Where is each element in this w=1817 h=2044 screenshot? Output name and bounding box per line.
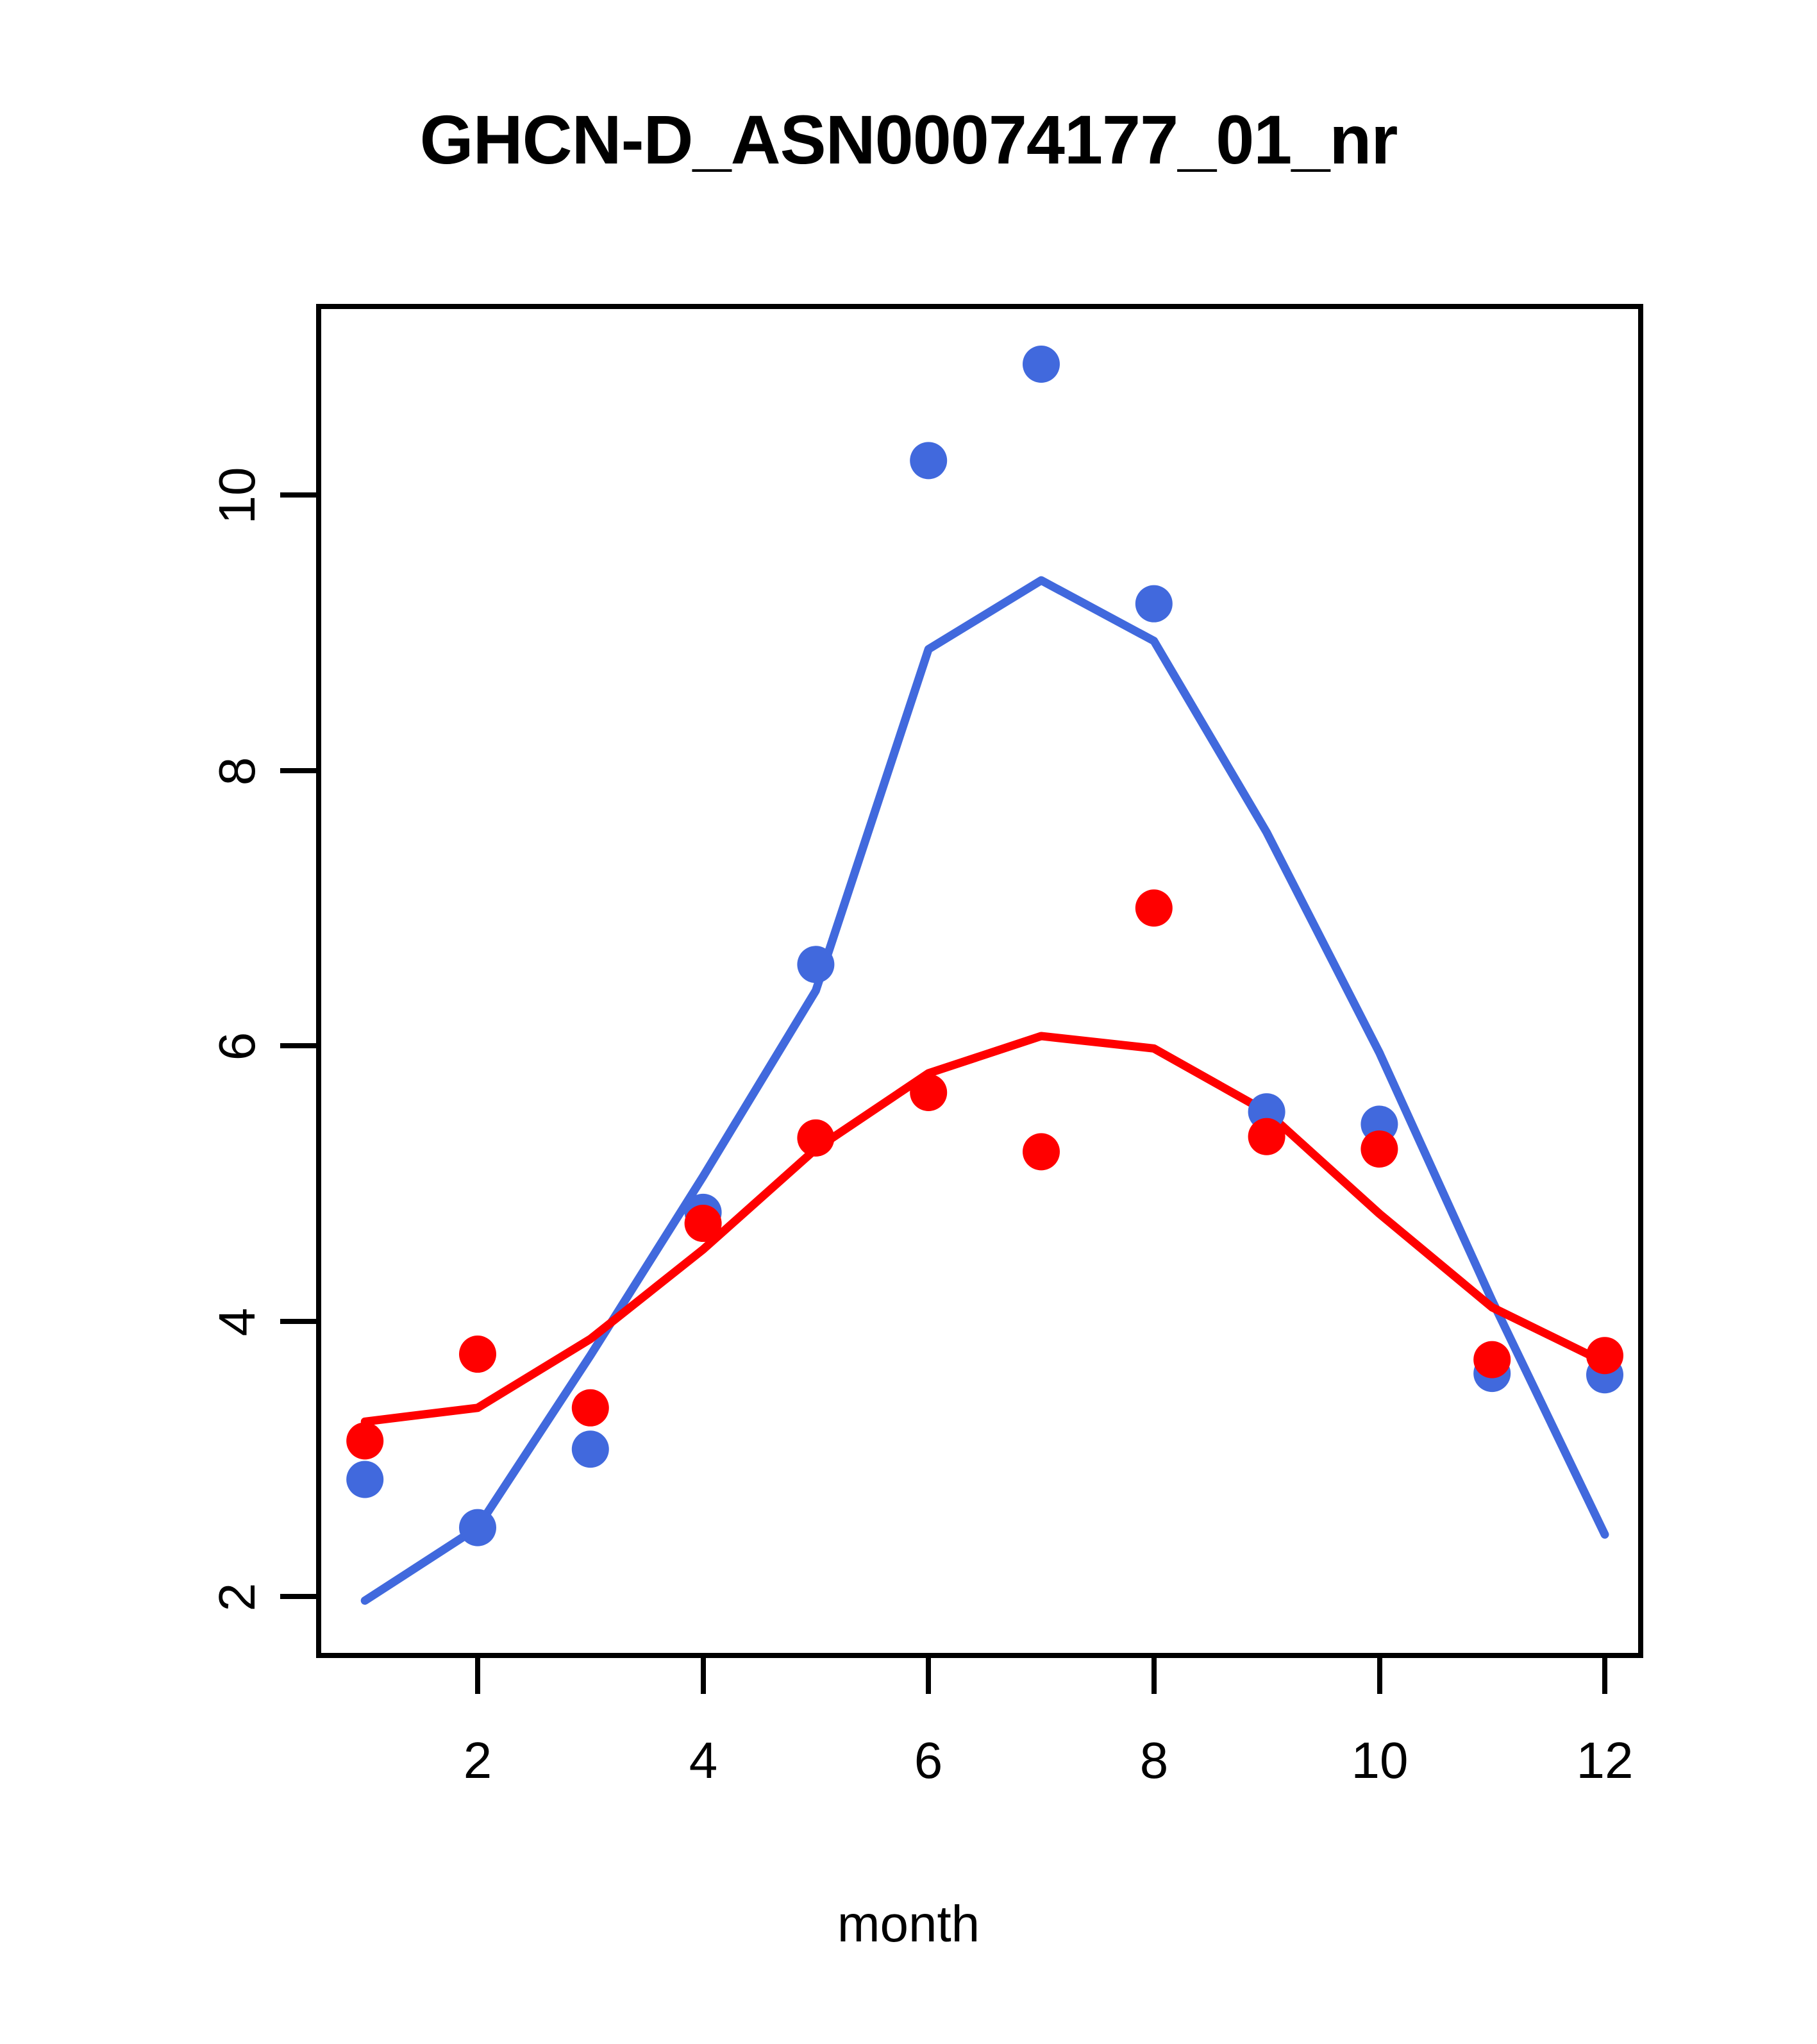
data-point <box>1135 585 1173 623</box>
series-line-blue-line <box>365 580 1605 1600</box>
data-point <box>910 1074 947 1111</box>
x-tick-label-2: 2 <box>414 1731 542 1790</box>
y-tick-label-8: 8 <box>208 726 267 816</box>
data-point <box>1361 1130 1398 1168</box>
series-points-blue-points <box>346 346 1623 1546</box>
data-point <box>459 1509 496 1546</box>
data-point <box>910 442 947 479</box>
x-tick-label-10: 10 <box>1316 1731 1444 1790</box>
data-point <box>685 1205 722 1242</box>
data-point <box>1586 1337 1623 1374</box>
plot-frame <box>319 306 1641 1655</box>
y-tick-label-4: 4 <box>208 1277 267 1367</box>
data-point <box>346 1422 383 1459</box>
data-point <box>1023 1133 1060 1170</box>
data-point <box>797 1119 834 1157</box>
data-point <box>1135 889 1173 926</box>
data-point <box>1248 1118 1285 1155</box>
x-tick-label-12: 12 <box>1541 1731 1669 1790</box>
data-series-layer <box>346 346 1623 1600</box>
series-line-red-line <box>365 1036 1605 1421</box>
x-axis-ticks <box>478 1655 1605 1694</box>
x-axis-label: month <box>0 1895 1817 1954</box>
y-tick-label-2: 2 <box>208 1552 267 1642</box>
data-point <box>346 1461 383 1498</box>
data-point <box>797 946 834 983</box>
plot-root: GHCN-D_ASN00074177_01_nr 2 4 6 8 10 12 1… <box>0 0 1817 2044</box>
data-point <box>1023 346 1060 383</box>
x-tick-label-4: 4 <box>639 1731 767 1790</box>
y-tick-label-6: 6 <box>208 1001 267 1091</box>
x-tick-label-8: 8 <box>1090 1731 1218 1790</box>
y-tick-label-10: 10 <box>208 451 267 540</box>
y-axis-ticks <box>280 495 319 1596</box>
data-point <box>572 1430 609 1468</box>
data-point <box>459 1336 496 1373</box>
data-point <box>572 1389 609 1427</box>
x-tick-label-6: 6 <box>864 1731 992 1790</box>
data-point <box>1473 1341 1511 1378</box>
